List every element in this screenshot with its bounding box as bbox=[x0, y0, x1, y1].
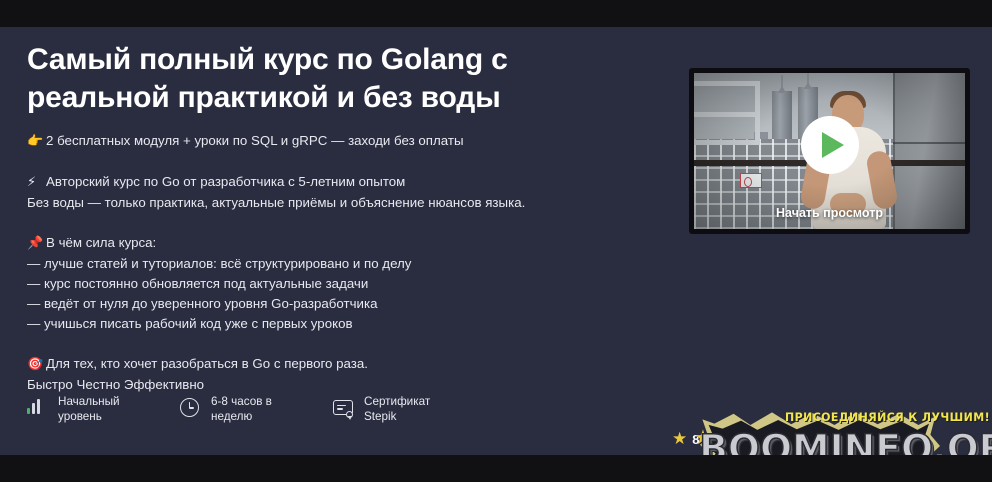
meta-item-level: Начальный уровень bbox=[27, 395, 180, 424]
play-button[interactable] bbox=[801, 116, 859, 174]
course-meta-row: Начальный уровень 6-8 часов в неделю bbox=[27, 395, 486, 424]
video-preview-card[interactable]: Начать просмотр bbox=[689, 68, 970, 234]
description-text: — курс постоянно обновляется под актуаль… bbox=[27, 276, 368, 291]
description-spacer bbox=[27, 334, 667, 354]
meta-label-line2: Stepik bbox=[364, 410, 430, 425]
watermark-tagline-top: ПРИСОЕДИНЯЙСЯ К ЛУЧШИМ! bbox=[785, 411, 990, 425]
description-line: 👉2 бесплатных модуля + уроки по SQL и gR… bbox=[27, 131, 667, 152]
page-title: Самый полный курс по Golang с реальной п… bbox=[27, 41, 587, 117]
meta-label-level: Начальный уровень bbox=[58, 395, 120, 424]
video-thumbnail[interactable]: Начать просмотр bbox=[694, 73, 965, 229]
description-line: 🎯Для тех, кто хочет разобраться в Go с п… bbox=[27, 354, 667, 375]
description-line: Быстро Честно Эффективно bbox=[27, 375, 667, 395]
lightning-bolt-icon: ⚡ bbox=[27, 173, 46, 193]
site-watermark: ★ ПРИСОЕДИНЯЙСЯ К ЛУЧШИМ! BOOMINFO.ORG О… bbox=[694, 409, 992, 455]
description-text: В чём сила курса: bbox=[46, 235, 156, 250]
meta-label-workload: 6-8 часов в неделю bbox=[211, 395, 272, 424]
description-spacer bbox=[27, 213, 667, 233]
star-icon: ★ bbox=[672, 431, 687, 448]
description-line: Без воды — только практика, актуальные п… bbox=[27, 193, 667, 213]
course-description: 👉2 бесплатных модуля + уроки по SQL и gR… bbox=[27, 131, 667, 395]
pointing-finger-icon: 👉 bbox=[27, 132, 46, 152]
watermark-brand: BOOMINFO.ORG bbox=[699, 427, 992, 455]
meta-label-line1: 6-8 часов в bbox=[211, 395, 272, 410]
screenshot-root: Самый полный курс по Golang с реальной п… bbox=[0, 0, 992, 482]
description-text: — лучше статей и туториалов: всё структу… bbox=[27, 256, 411, 271]
course-landing-page: Самый полный курс по Golang с реальной п… bbox=[0, 27, 992, 455]
letterbox-bottom bbox=[0, 455, 992, 482]
description-spacer bbox=[27, 152, 667, 172]
play-triangle-icon bbox=[822, 132, 844, 158]
course-info-column: Самый полный курс по Golang с реальной п… bbox=[27, 41, 667, 395]
description-line: ⚡Авторский курс по Go от разработчика с … bbox=[27, 172, 667, 193]
description-text: Без воды — только практика, актуальные п… bbox=[27, 195, 525, 210]
description-line: — курс постоянно обновляется под актуаль… bbox=[27, 274, 667, 294]
description-line: — учишься писать рабочий код уже с первы… bbox=[27, 314, 667, 334]
pushpin-icon: 📌 bbox=[27, 234, 46, 254]
description-text: — ведёт от нуля до уверенного уровня Go-… bbox=[27, 296, 377, 311]
meta-item-workload: 6-8 часов в неделю bbox=[180, 395, 333, 424]
video-caption: Начать просмотр bbox=[694, 206, 965, 220]
meta-label-line1: Начальный bbox=[58, 395, 120, 410]
description-text: Для тех, кто хочет разобраться в Go с пе… bbox=[46, 356, 368, 371]
description-text: Авторский курс по Go от разработчика с 5… bbox=[46, 174, 405, 189]
description-text: — учишься писать рабочий код уже с первы… bbox=[27, 316, 353, 331]
description-text: Быстро Честно Эффективно bbox=[27, 377, 204, 392]
meta-label-line1: Сертификат bbox=[364, 395, 430, 410]
description-line: — лучше статей и туториалов: всё структу… bbox=[27, 254, 667, 274]
description-line: — ведёт от нуля до уверенного уровня Go-… bbox=[27, 294, 667, 314]
meta-label-line2: неделю bbox=[211, 410, 272, 425]
meta-label-line2: уровень bbox=[58, 410, 120, 425]
description-line: 📌В чём сила курса: bbox=[27, 233, 667, 254]
description-text: 2 бесплатных модуля + уроки по SQL и gRP… bbox=[46, 133, 464, 148]
meta-label-certificate: Сертификат Stepik bbox=[364, 395, 430, 424]
clock-icon bbox=[180, 398, 202, 420]
dart-target-icon: 🎯 bbox=[27, 355, 46, 375]
level-bars-icon bbox=[27, 398, 49, 420]
certificate-icon bbox=[333, 398, 355, 420]
letterbox-top bbox=[0, 0, 992, 27]
meta-item-certificate: Сертификат Stepik bbox=[333, 395, 486, 424]
